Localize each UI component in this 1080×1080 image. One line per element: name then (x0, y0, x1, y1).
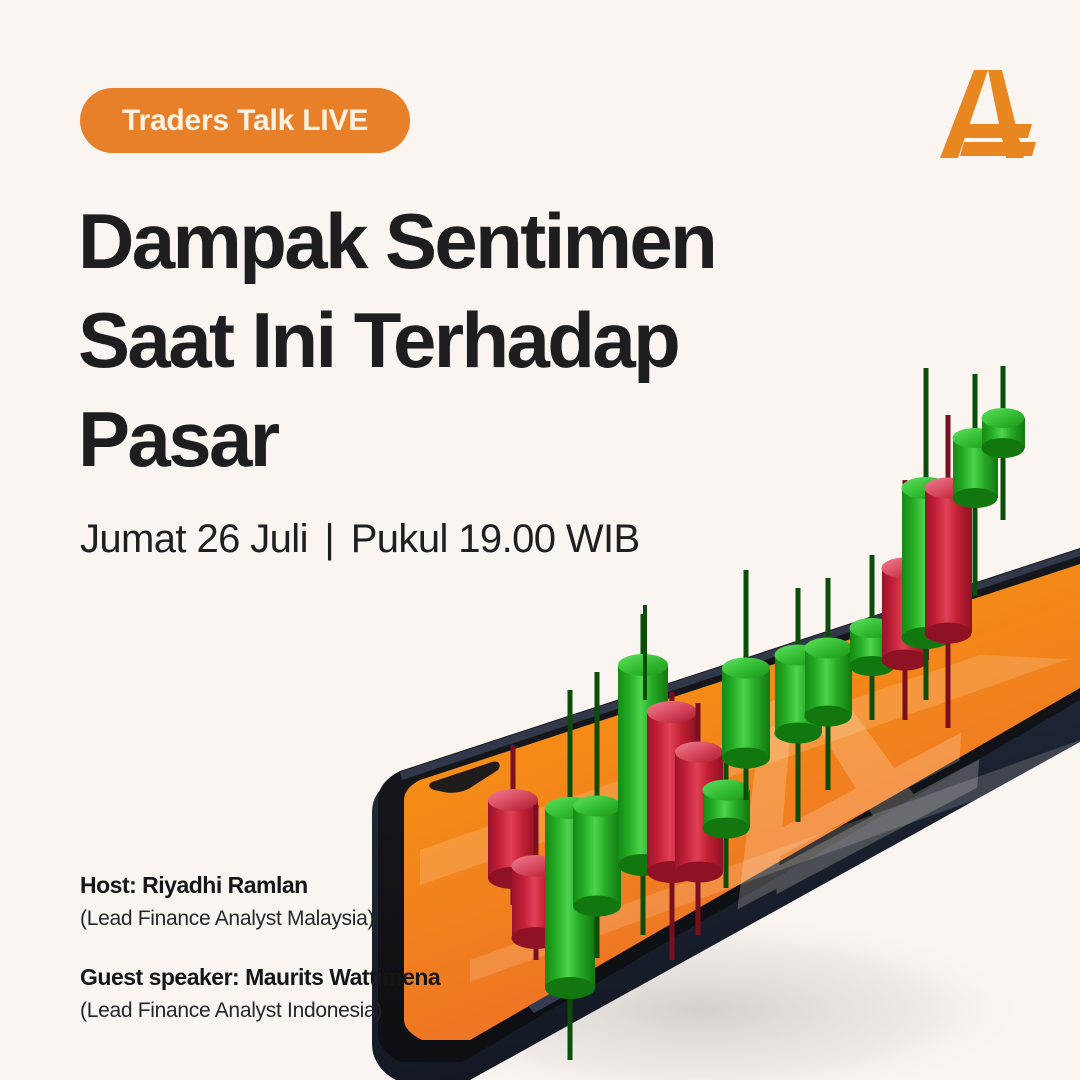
candle-5 (618, 614, 668, 935)
letter-a-logo-icon (928, 62, 1038, 162)
headline-line-3: Pasar (78, 390, 838, 489)
candle-15 (902, 368, 952, 700)
poster-canvas: Traders Talk LIVE Dampak Sentimen Saat I… (0, 0, 1080, 1080)
candle-4 (573, 672, 621, 958)
live-badge: Traders Talk LIVE (80, 88, 410, 153)
schedule-line: Jumat 26 Juli | Pukul 19.00 WIB (80, 517, 640, 562)
credit-guest: Guest speaker: Maurits Wattimena (Lead F… (80, 960, 440, 1027)
credit-host-role: (Lead Finance Analyst Malaysia) (80, 903, 440, 936)
candle-12 (805, 578, 853, 790)
candle-7 (647, 692, 697, 960)
credit-guest-role: (Lead Finance Analyst Indonesia) (80, 995, 440, 1028)
speaker-credits: Host: Riyadhi Ramlan (Lead Finance Analy… (80, 868, 440, 1027)
headline-line-1: Dampak Sentimen (78, 192, 838, 291)
schedule-date: Jumat 26 Juli (80, 517, 308, 561)
candle-16 (925, 415, 973, 728)
candle-14 (882, 480, 930, 720)
candle-17 (953, 374, 999, 596)
schedule-time: Pukul 19.00 WIB (351, 517, 640, 561)
credit-host-name: Host: Riyadhi Ramlan (80, 868, 440, 903)
candle-10 (722, 570, 770, 800)
candle-13 (850, 555, 896, 720)
candle-2 (512, 805, 562, 960)
candle-1 (488, 745, 538, 905)
live-badge-label: Traders Talk LIVE (122, 104, 368, 138)
credit-guest-name: Guest speaker: Maurits Wattimena (80, 960, 440, 995)
headline-line-2: Saat Ini Terhadap (78, 291, 838, 390)
schedule-separator: | (318, 517, 340, 561)
candle-3 (545, 690, 595, 1060)
page-title: Dampak Sentimen Saat Ini Terhadap Pasar (78, 192, 838, 489)
candle-9 (703, 712, 751, 888)
candle-11 (775, 588, 823, 822)
candle-8 (675, 703, 723, 935)
candle-18 (982, 366, 1026, 520)
credit-host: Host: Riyadhi Ramlan (Lead Finance Analy… (80, 868, 440, 935)
smartphone-icon (372, 548, 1080, 1080)
